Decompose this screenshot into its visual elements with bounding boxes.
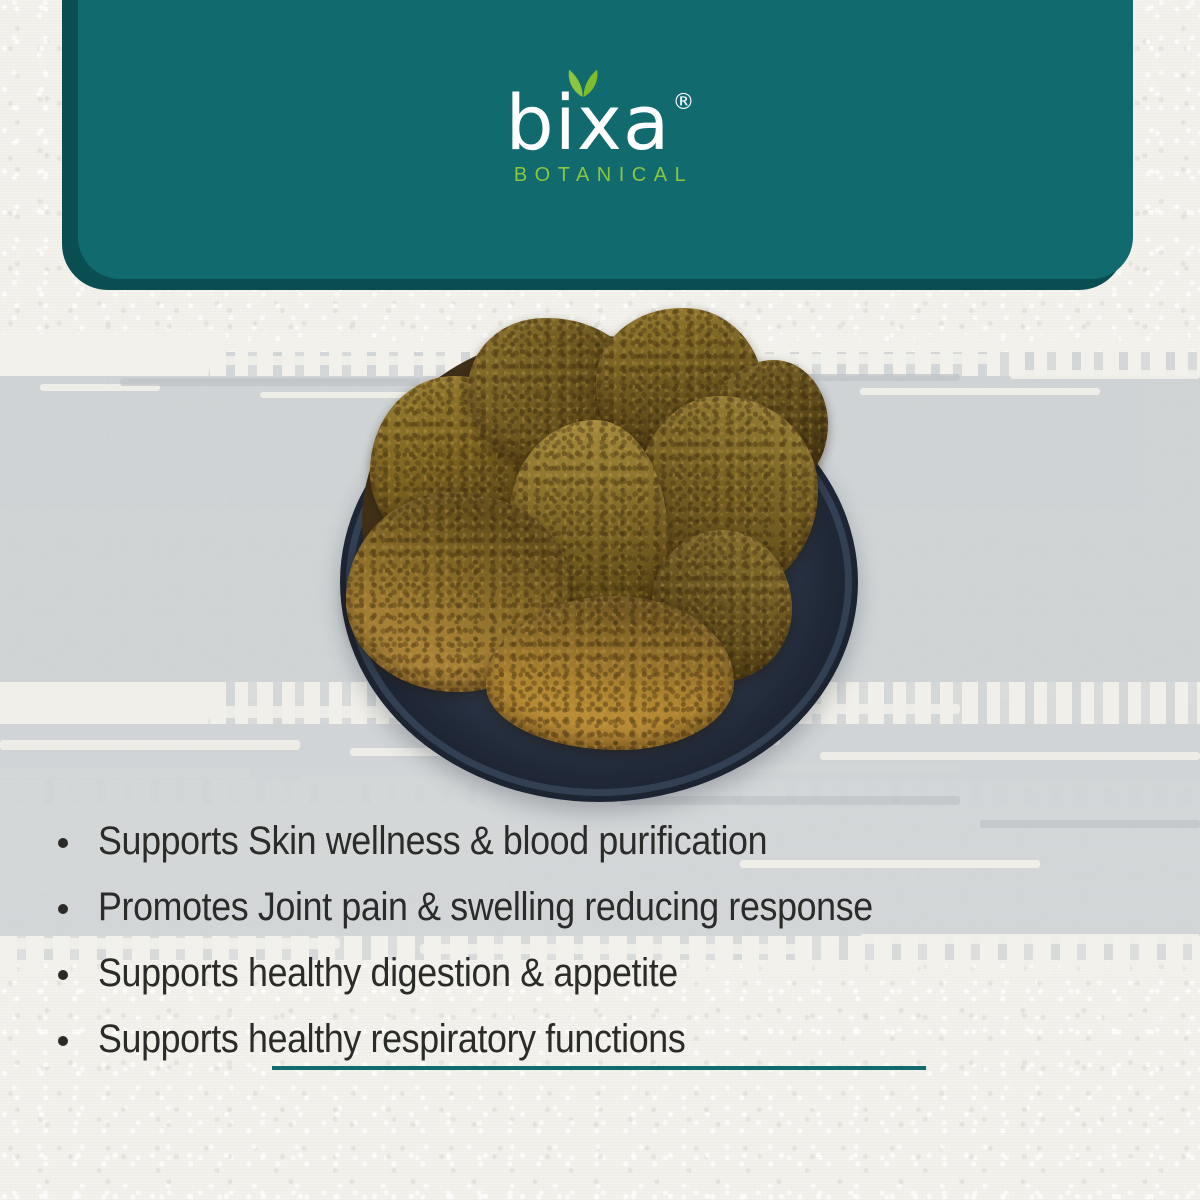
list-item: Supports healthy respiratory functions: [58, 1016, 1018, 1062]
brand-logo: bixa ® BOTANICAL: [0, 84, 1200, 204]
bullet-point-icon: [58, 838, 68, 848]
benefit-text: Supports Skin wellness & blood purificat…: [98, 818, 767, 864]
brush-streak: [0, 360, 180, 371]
list-item: Supports Skin wellness & blood purificat…: [58, 818, 1018, 864]
registered-trademark-icon: ®: [672, 92, 694, 114]
list-item: Promotes Joint pain & swelling reducing …: [58, 884, 1018, 930]
product-photo: [318, 300, 878, 812]
benefits-list: Supports Skin wellness & blood purificat…: [58, 818, 1018, 1082]
leaf-icon: [566, 68, 600, 98]
brush-streak: [1010, 370, 1200, 379]
bullet-point-icon: [58, 904, 68, 914]
bullet-point-icon: [58, 1036, 68, 1046]
logo-wordmark: bixa ®: [506, 84, 695, 162]
benefit-text: Supports healthy respiratory functions: [98, 1016, 685, 1062]
brush-streak: [0, 740, 300, 750]
bullet-point-icon: [58, 970, 68, 980]
benefit-text: Supports healthy digestion & appetite: [98, 950, 678, 996]
benefit-text: Promotes Joint pain & swelling reducing …: [98, 884, 873, 930]
brush-streak: [860, 388, 1100, 395]
list-item: Supports healthy digestion & appetite: [58, 950, 1018, 996]
product-infographic: bixa ® BOTANICAL Supports Skin wellness …: [0, 0, 1200, 1200]
logo-tagline: BOTANICAL: [507, 164, 693, 187]
accent-divider: [272, 1066, 926, 1070]
